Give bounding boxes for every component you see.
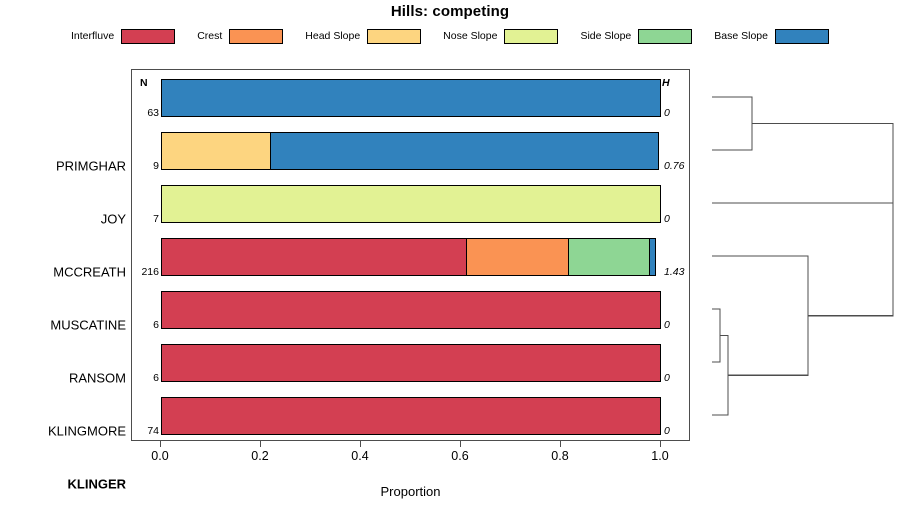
x-axis-tick (160, 441, 161, 447)
bar-segment[interactable] (161, 79, 661, 117)
legend-item[interactable]: Base Slope (714, 29, 829, 44)
x-axis-tick (260, 441, 261, 447)
x-axis-tick (460, 441, 461, 447)
x-axis-tick (660, 441, 661, 447)
stacked-bar-row[interactable] (161, 291, 661, 329)
legend-color-swatch (775, 29, 829, 44)
legend-item-label: Base Slope (714, 30, 768, 42)
legend-item[interactable]: Side Slope (580, 29, 692, 44)
legend: InterfluveCrestHead SlopeNose SlopeSide … (0, 26, 900, 46)
chart-root: Hills: competing InterfluveCrestHead Slo… (0, 0, 900, 520)
h-value: 0.76 (664, 160, 684, 172)
h-value: 0 (664, 213, 670, 225)
stacked-bar-row[interactable] (161, 397, 661, 435)
dendrogram-link (712, 256, 808, 375)
legend-item-label: Nose Slope (443, 30, 497, 42)
bar-segment[interactable] (161, 238, 468, 276)
h-value: 0 (664, 107, 670, 119)
x-axis-tick-label: 0.4 (351, 449, 368, 463)
stacked-bar-row[interactable] (161, 238, 661, 276)
dendrogram-link (752, 124, 893, 316)
h-value: 0 (664, 425, 670, 437)
bar-segment[interactable] (270, 132, 659, 170)
y-axis-label-muscatine: MUSCATINE (50, 318, 126, 333)
bar-segment[interactable] (649, 238, 656, 276)
legend-item[interactable]: Nose Slope (443, 29, 558, 44)
y-axis-label-klinger: KLINGER (68, 477, 127, 492)
column-header-n: N (140, 77, 148, 89)
h-value: 0 (664, 372, 670, 384)
x-axis-title: Proportion (131, 484, 690, 499)
x-axis-tick (360, 441, 361, 447)
legend-item-label: Interfluve (71, 30, 114, 42)
y-axis-label-joy: JOY (101, 212, 126, 227)
stacked-bar-row[interactable] (161, 79, 661, 117)
bar-segment[interactable] (568, 238, 651, 276)
legend-color-swatch (121, 29, 175, 44)
bar-segment[interactable] (161, 185, 661, 223)
dendrogram-link (712, 97, 752, 150)
n-value: 9 (133, 160, 159, 172)
dendrogram (690, 60, 900, 455)
dendrogram-svg (690, 60, 900, 455)
bar-segment[interactable] (161, 291, 661, 329)
y-axis-labels: PRIMGHARJOYMCCREATHMUSCATINERANSOMKLINGM… (0, 69, 126, 441)
n-value: 74 (133, 425, 159, 437)
stacked-bar-row[interactable] (161, 132, 661, 170)
bar-segment[interactable] (161, 132, 272, 170)
n-value: 6 (133, 319, 159, 331)
stacked-bar-row[interactable] (161, 344, 661, 382)
y-axis-label-ransom: RANSOM (69, 371, 126, 386)
y-axis-label-klingmore: KLINGMORE (48, 424, 126, 439)
legend-color-swatch (504, 29, 558, 44)
n-value: 7 (133, 213, 159, 225)
x-axis-tick-label: 0.8 (551, 449, 568, 463)
column-header-h: H (662, 77, 670, 89)
stacked-bar-row[interactable] (161, 185, 661, 223)
page-title: Hills: competing (0, 3, 900, 20)
x-axis-tick-label: 0.2 (251, 449, 268, 463)
legend-item[interactable]: Head Slope (305, 29, 421, 44)
x-axis-tick-label: 0.0 (151, 449, 168, 463)
y-axis-label-primghar: PRIMGHAR (56, 159, 126, 174)
legend-color-swatch (229, 29, 283, 44)
bar-segment[interactable] (161, 344, 661, 382)
n-value: 216 (133, 266, 159, 278)
x-axis-tick-label: 0.6 (451, 449, 468, 463)
dendrogram-link (712, 309, 720, 362)
h-value: 0 (664, 319, 670, 331)
y-axis-label-mccreath: MCCREATH (53, 265, 126, 280)
n-value: 63 (133, 107, 159, 119)
legend-item[interactable]: Crest (197, 29, 283, 44)
bar-segment[interactable] (466, 238, 570, 276)
legend-item[interactable]: Interfluve (71, 29, 175, 44)
bar-segment[interactable] (161, 397, 661, 435)
x-axis: 0.00.20.40.60.81.0 (131, 441, 690, 459)
x-axis-tick-label: 1.0 (651, 449, 668, 463)
legend-color-swatch (638, 29, 692, 44)
x-axis-tick (560, 441, 561, 447)
legend-item-label: Crest (197, 30, 222, 42)
legend-item-label: Head Slope (305, 30, 360, 42)
plot-panel: N H 63090.76702161.436060740 (131, 69, 690, 441)
h-value: 1.43 (664, 266, 684, 278)
legend-color-swatch (367, 29, 421, 44)
n-value: 6 (133, 372, 159, 384)
legend-item-label: Side Slope (580, 30, 631, 42)
